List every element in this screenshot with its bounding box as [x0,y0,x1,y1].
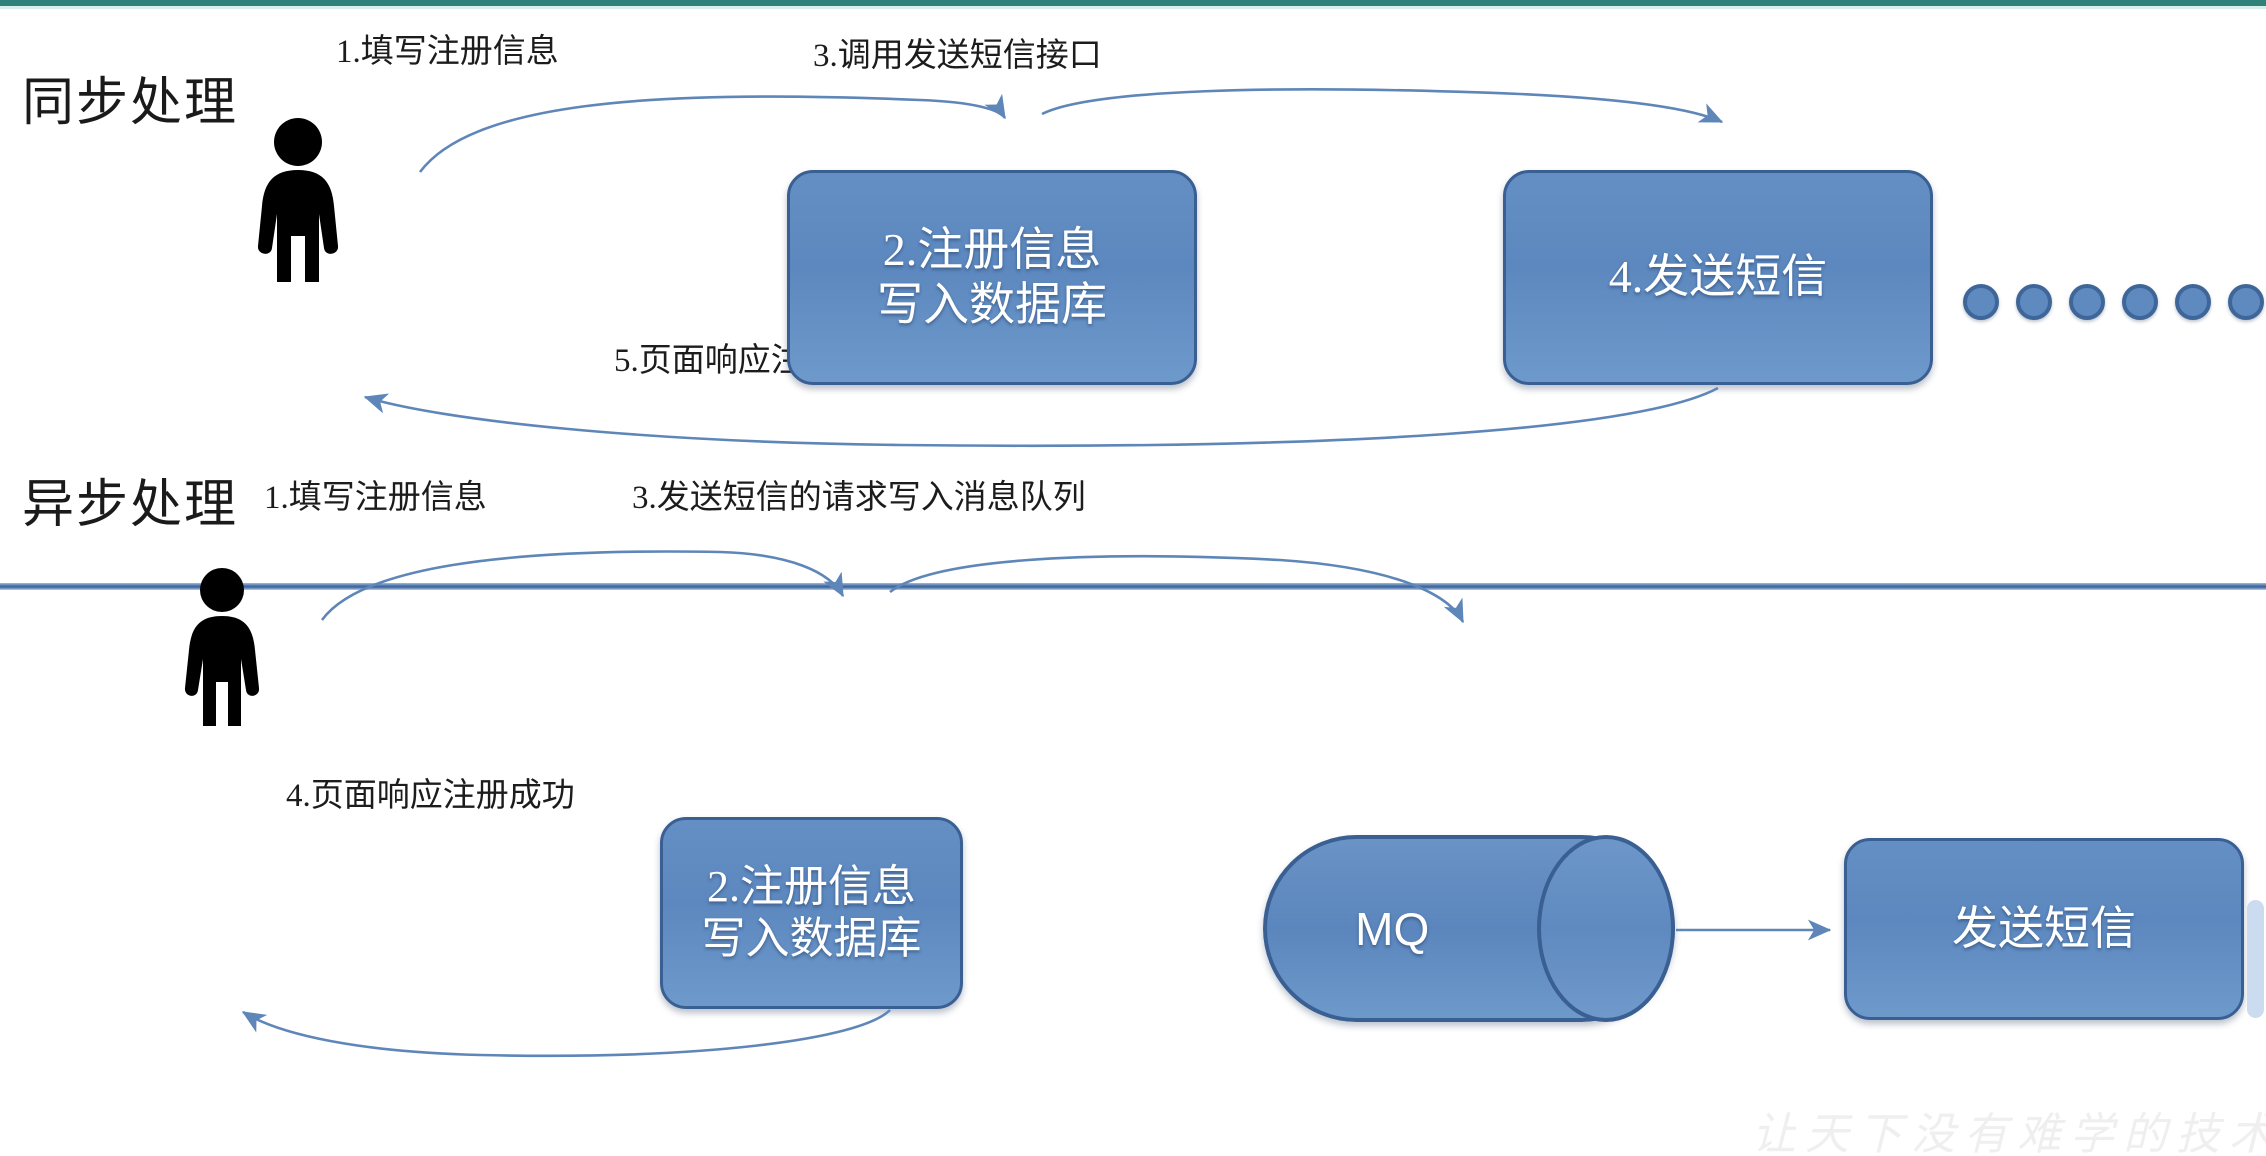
node-async-send-sms[interactable]: 发送短信 [1844,838,2244,1020]
node-async-write-db[interactable]: 2.注册信息 写入数据库 [660,817,963,1009]
node-async-send-sms-line1: 发送短信 [1952,902,2136,956]
trailing-dot-6 [2228,284,2264,320]
trailing-dot-5 [2175,284,2211,320]
actor-user-sync [250,118,346,287]
trailing-dot-3 [2069,284,2105,320]
label-sync-step3: 3.调用发送短信接口 [813,28,1102,76]
section-divider [0,583,2266,590]
node-message-queue[interactable]: MQ [1263,835,1675,1022]
label-async-step1: 1.填写注册信息 [264,470,487,518]
watermark-text: 让天下没有难学的技术 [1752,1098,2266,1156]
node-sync-write-db-line1: 2.注册信息 [883,223,1102,277]
vertical-scrollbar-thumb[interactable] [2247,900,2264,1018]
arrow-sync-step5 [365,388,1718,446]
label-async-step4: 4.页面响应注册成功 [286,768,575,816]
diagram-canvas: 同步处理 1.填写注册信息 3.调用发送短信接口 5.页面响应注册成功 2.注册… [0,0,2266,1156]
node-sync-send-sms-line1: 4.发送短信 [1609,250,1828,304]
node-sync-write-db[interactable]: 2.注册信息 写入数据库 [787,170,1197,385]
label-async-step3: 3.发送短信的请求写入消息队列 [632,470,1086,518]
section-title-sync: 同步处理 [22,60,238,135]
cylinder-end-cap [1537,835,1675,1022]
top-accent-bar-highlight [0,6,2266,9]
node-sync-write-db-line2: 写入数据库 [877,278,1107,332]
trailing-dot-1 [1963,284,1999,320]
node-async-write-db-line1: 2.注册信息 [707,861,916,913]
section-title-async: 异步处理 [22,462,238,537]
actor-user-async [178,568,266,731]
node-sync-send-sms[interactable]: 4.发送短信 [1503,170,1933,385]
trailing-dot-4 [2122,284,2158,320]
node-async-write-db-line2: 写入数据库 [702,913,922,965]
trailing-dot-2 [2016,284,2052,320]
arrow-sync-step3 [1042,89,1722,122]
node-message-queue-label: MQ [1267,902,1517,956]
arrow-async-step4 [243,1010,890,1056]
arrow-sync-step1 [420,96,1005,172]
label-sync-step1: 1.填写注册信息 [336,24,559,72]
